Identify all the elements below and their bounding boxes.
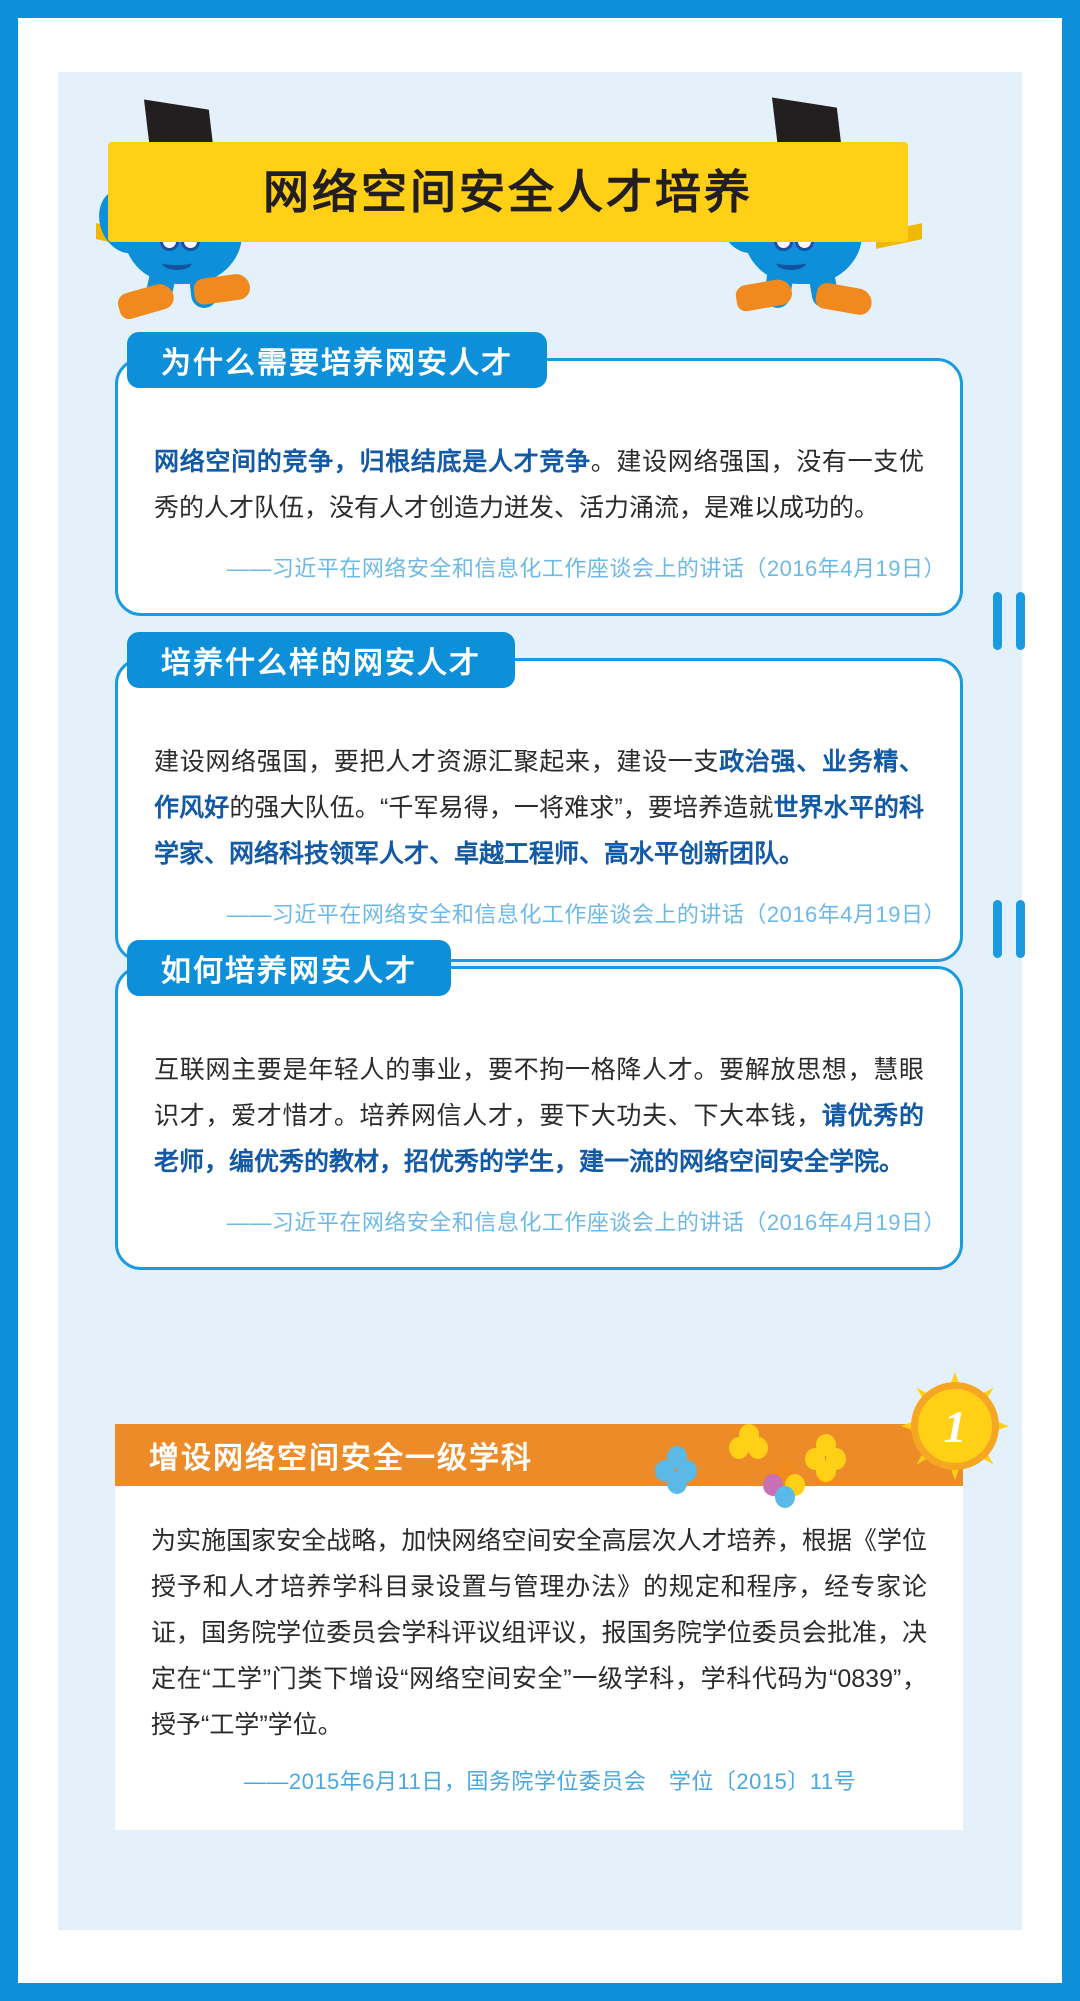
flower-petal — [729, 1437, 749, 1459]
section-heading-tab[interactable]: 如何培养网安人才 — [127, 940, 451, 996]
section-card: 网络空间的竞争，归根结底是人才竞争。建设网络强国，没有一支优秀的人才队伍，没有人… — [115, 358, 963, 616]
connector-bar-left — [993, 900, 1002, 958]
flower-decoration-blue — [655, 1446, 701, 1492]
medal-disc: 1 — [911, 1382, 999, 1470]
medal-decoration: 1 — [895, 1366, 1015, 1486]
connector-bar-right — [1016, 900, 1025, 958]
flower-decoration-orange — [763, 1460, 809, 1506]
paragraph-text: 为实施国家安全战略，加快网络空间安全高层次人才培养，根据《学位授予和人才培养学科… — [151, 1527, 927, 1739]
section-heading-label: 为什么需要培养网安人才 — [161, 338, 513, 382]
paragraph-text-1: 建设网络强国，要把人才资源汇聚起来，建设一支 — [154, 748, 719, 776]
paragraph-text: 互联网主要是年轻人的事业，要不拘一格降人才。要解放思想，慧眼识才，爱才惜才。培养… — [154, 1056, 924, 1130]
paragraph-highlight: 网络空间的竞争，归根结底是人才竞争 — [154, 448, 591, 476]
medal-number: 1 — [944, 1400, 967, 1453]
section-connector-2 — [983, 900, 1039, 958]
section-card: 建设网络强国，要把人才资源汇聚起来，建设一支政治强、业务精、作风好的强大队伍。“… — [115, 658, 963, 962]
title-banner: 网络空间安全人才培养 — [108, 142, 908, 242]
section-attribution: ——习近平在网络安全和信息化工作座谈会上的讲话（2016年4月19日） — [118, 545, 960, 613]
section-heading-label: 培养什么样的网安人才 — [161, 638, 481, 682]
flower-petal — [816, 1460, 836, 1482]
poster-root: 网络空间安全人才培养 网络空间的竞争，归根结底是人才竞争。建设网络 — [0, 0, 1080, 2001]
section-heading-label: 增设网络空间安全一级学科 — [149, 1433, 533, 1477]
poster-title: 网络空间安全人才培养 — [108, 142, 908, 242]
flower-petal — [667, 1472, 687, 1494]
section-attribution: ——习近平在网络安全和信息化工作座谈会上的讲话（2016年4月19日） — [118, 1199, 960, 1267]
section-heading-label: 如何培养网安人才 — [161, 946, 417, 990]
flower-petal — [748, 1437, 768, 1459]
poster-header: 网络空间安全人才培养 — [58, 100, 1022, 300]
connector-bar-left — [993, 592, 1002, 650]
mascot-mouth — [776, 256, 806, 270]
section-paragraph: 网络空间的竞争，归根结底是人才竞争。建设网络强国，没有一支优秀的人才队伍，没有人… — [118, 361, 960, 545]
section-heading-tab[interactable]: 培养什么样的网安人才 — [127, 632, 515, 688]
section-paragraph: 互联网主要是年轻人的事业，要不拘一格降人才。要解放思想，慧眼识才，爱才惜才。培养… — [118, 969, 960, 1199]
flower-petal — [775, 1486, 795, 1508]
connector-bar-right — [1016, 592, 1025, 650]
paragraph-text-2: 的强大队伍。“千军易得，一将难求”，要培养造就 — [229, 794, 773, 822]
section-paragraph: 为实施国家安全战略，加快网络空间安全高层次人才培养，根据《学位授予和人才培养学科… — [115, 1486, 963, 1758]
flower-decoration-yellow-2 — [805, 1434, 849, 1478]
mascot-mouth — [162, 256, 192, 270]
section-attribution: ——2015年6月11日，国务院学位委员会 学位〔2015〕11号 — [115, 1758, 963, 1830]
section-card: 互联网主要是年轻人的事业，要不拘一格降人才。要解放思想，慧眼识才，爱才惜才。培养… — [115, 966, 963, 1270]
section-heading-tab[interactable]: 为什么需要培养网安人才 — [127, 332, 547, 388]
section-connector-1 — [983, 592, 1039, 650]
section-card: 为实施国家安全战略，加快网络空间安全高层次人才培养，根据《学位授予和人才培养学科… — [115, 1486, 963, 1830]
section-paragraph: 建设网络强国，要把人才资源汇聚起来，建设一支政治强、业务精、作风好的强大队伍。“… — [118, 661, 960, 891]
